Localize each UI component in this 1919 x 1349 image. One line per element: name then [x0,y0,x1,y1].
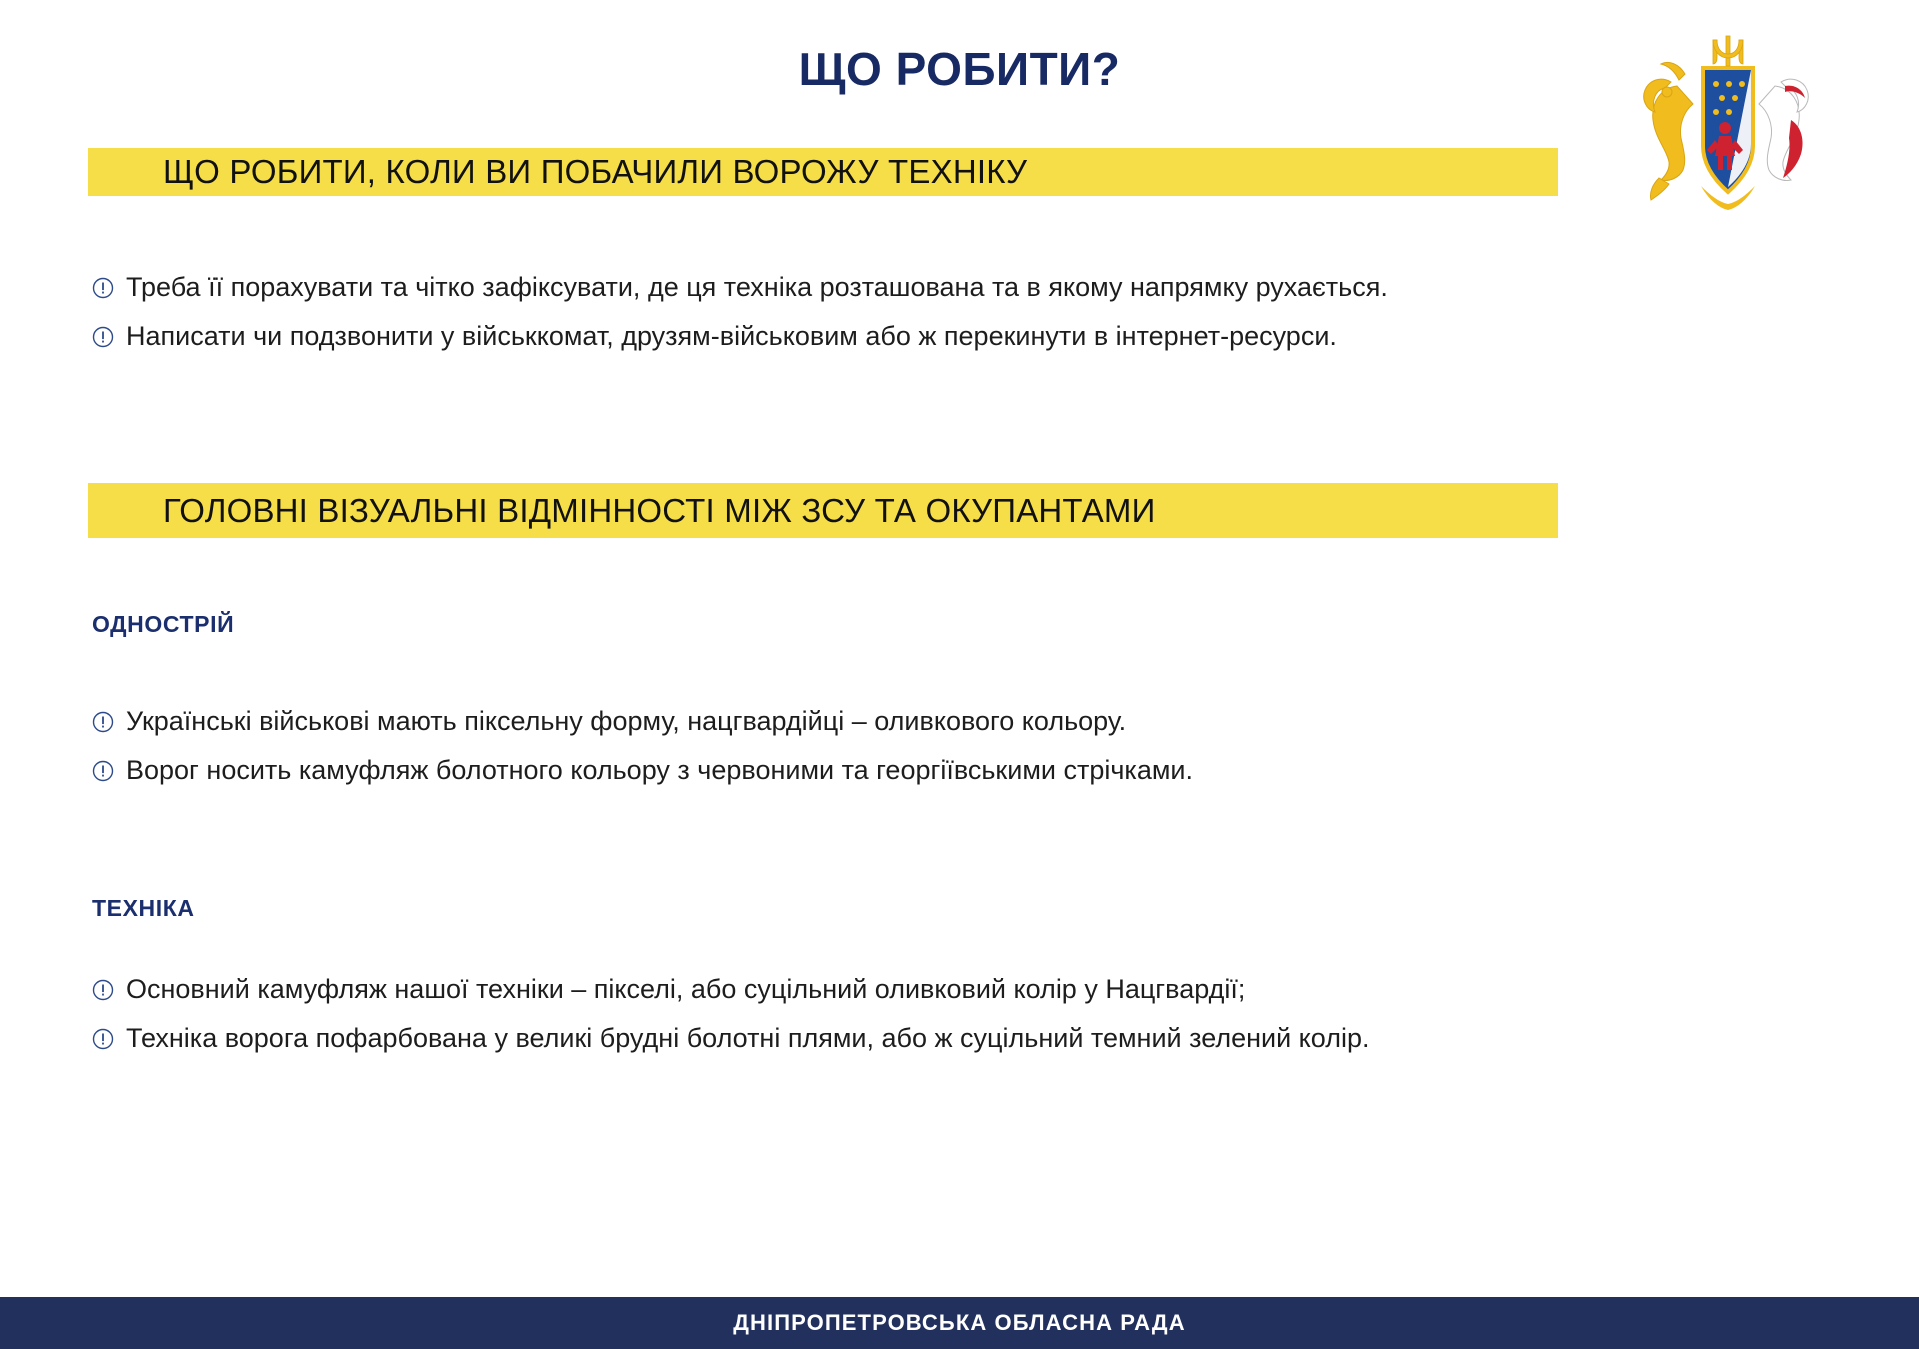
bullet-list-uniform: Українські військові мають піксельну фор… [92,704,1193,787]
list-item: Треба її порахувати та чітко зафіксувати… [92,270,1388,304]
footer-organization-name: ДНІПРОПЕТРОВСЬКА ОБЛАСНА РАДА [733,1310,1185,1336]
footer-bar: ДНІПРОПЕТРОВСЬКА ОБЛАСНА РАДА [0,1297,1919,1349]
exclamation-circle-icon [92,760,114,782]
list-item: Українські військові мають піксельну фор… [92,704,1193,738]
list-item-text: Написати чи подзвонити у військкомат, др… [126,319,1337,353]
exclamation-circle-icon [92,326,114,348]
section-bar-label: ГОЛОВНІ ВІЗУАЛЬНІ ВІДМІННОСТІ МІЖ ЗСУ ТА… [163,492,1156,530]
slide-canvas: ЩО РОБИТИ? [0,0,1919,1349]
list-item: Техніка ворога пофарбована у великі бруд… [92,1021,1369,1055]
section-bar-visual-differences: ГОЛОВНІ ВІЗУАЛЬНІ ВІДМІННОСТІ МІЖ ЗСУ ТА… [88,483,1558,538]
list-item-text: Українські військові мають піксельну фор… [126,704,1126,738]
subsection-heading-equipment: ТЕХНІКА [92,895,195,922]
exclamation-circle-icon [92,979,114,1001]
section-bar-label: ЩО РОБИТИ, КОЛИ ВИ ПОБАЧИЛИ ВОРОЖУ ТЕХНІ… [163,153,1027,191]
bullet-list-equipment: Основний камуфляж нашої техніки – піксел… [92,972,1369,1055]
exclamation-circle-icon [92,277,114,299]
list-item-text: Треба її порахувати та чітко зафіксувати… [126,270,1388,304]
list-item-text: Основний камуфляж нашої техніки – піксел… [126,972,1245,1006]
subsection-heading-uniform: ОДНОСТРІЙ [92,611,234,638]
coat-of-arms-icon [1625,28,1825,218]
exclamation-circle-icon [92,711,114,733]
list-item: Ворог носить камуфляж болотного кольору … [92,753,1193,787]
bullet-list-what-to-do: Треба її порахувати та чітко зафіксувати… [92,270,1388,353]
list-item-text: Ворог носить камуфляж болотного кольору … [126,753,1193,787]
list-item: Написати чи подзвонити у військкомат, др… [92,319,1388,353]
list-item: Основний камуфляж нашої техніки – піксел… [92,972,1369,1006]
section-bar-what-to-do: ЩО РОБИТИ, КОЛИ ВИ ПОБАЧИЛИ ВОРОЖУ ТЕХНІ… [88,148,1558,196]
list-item-text: Техніка ворога пофарбована у великі бруд… [126,1021,1369,1055]
coat-of-arms-emblem [1625,28,1825,218]
exclamation-circle-icon [92,1028,114,1050]
